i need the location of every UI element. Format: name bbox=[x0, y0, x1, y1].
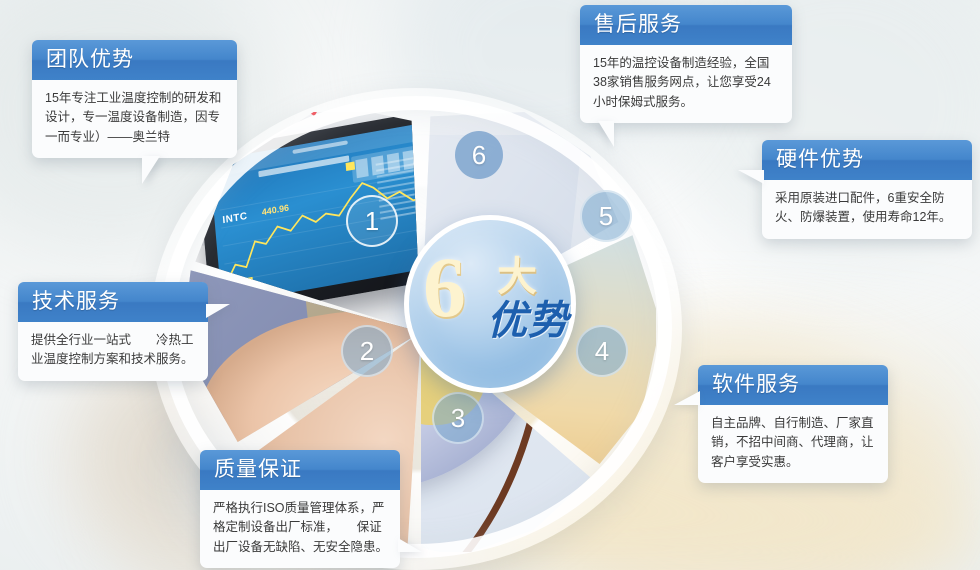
callout-tail bbox=[598, 121, 614, 147]
callout-tail bbox=[398, 538, 422, 552]
callout-card-after-sales[interactable]: 售后服务 15年的温控设备制造经验，全国38家销售服务网点，让您享受24小时保姆… bbox=[580, 5, 792, 123]
callout-body-software: 自主品牌、自行制造、厂家直销，不招中间商、代理商，让客户享受实惠。 bbox=[698, 405, 888, 483]
callout-card-quality[interactable]: 质量保证 严格执行ISO质量管理体系，严格定制设备出厂标准， 保证出厂设备无缺陷… bbox=[200, 450, 400, 568]
callout-title-team: 团队优势 bbox=[32, 40, 237, 80]
callout-title-software: 软件服务 bbox=[698, 365, 888, 405]
callout-body-hardware: 采用原装进口配件，6重安全防火、防爆装置，使用寿命12年。 bbox=[762, 180, 972, 239]
callout-card-team[interactable]: 团队优势 15年专注工业温度控制的研发和设计，专一温度设备制造，因专一而专业）—… bbox=[32, 40, 237, 158]
callout-card-software[interactable]: 软件服务 自主品牌、自行制造、厂家直销，不招中间商、代理商，让客户享受实惠。 bbox=[698, 365, 888, 483]
callout-title-quality: 质量保证 bbox=[200, 450, 400, 490]
callout-card-hardware[interactable]: 硬件优势 采用原装进口配件，6重安全防火、防爆装置，使用寿命12年。 bbox=[762, 140, 972, 239]
callout-title-hardware: 硬件优势 bbox=[762, 140, 972, 180]
callout-tail bbox=[206, 304, 230, 318]
center-badge[interactable]: 6 大 优势 bbox=[404, 215, 576, 393]
callout-tail bbox=[674, 391, 700, 405]
center-number: 6 bbox=[423, 244, 466, 330]
segment-number-5[interactable]: 5 bbox=[580, 190, 632, 242]
callout-body-team: 15年专注工业温度控制的研发和设计，专一温度设备制造，因专一而专业）——奥兰特 bbox=[32, 80, 237, 158]
center-script-text: 优势 bbox=[487, 288, 569, 346]
callout-body-quality: 严格执行ISO质量管理体系，严格定制设备出厂标准， 保证出厂设备无缺陷、无安全隐… bbox=[200, 490, 400, 568]
callout-body-after-sales: 15年的温控设备制造经验，全国38家销售服务网点，让您享受24小时保姆式服务。 bbox=[580, 45, 792, 123]
callout-body-technical: 提供全行业一站式 冷热工业温度控制方案和技术服务。 bbox=[18, 322, 208, 381]
callout-title-after-sales: 售后服务 bbox=[580, 5, 792, 45]
segment-number-2[interactable]: 2 bbox=[341, 325, 393, 377]
segment-number-3[interactable]: 3 bbox=[432, 392, 484, 444]
callout-title-technical: 技术服务 bbox=[18, 282, 208, 322]
infographic-canvas: INTC 440.96 bbox=[0, 0, 980, 570]
callout-tail bbox=[142, 156, 160, 184]
segment-number-6[interactable]: 6 bbox=[455, 131, 503, 179]
callout-card-technical[interactable]: 技术服务 提供全行业一站式 冷热工业温度控制方案和技术服务。 bbox=[18, 282, 208, 381]
callout-tail bbox=[738, 170, 764, 184]
segment-number-1[interactable]: 1 bbox=[346, 195, 398, 247]
segment-number-4[interactable]: 4 bbox=[576, 325, 628, 377]
